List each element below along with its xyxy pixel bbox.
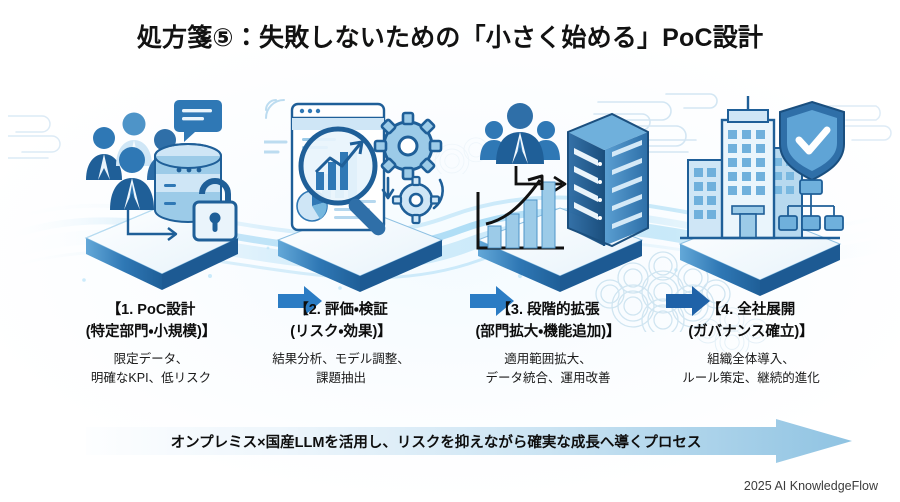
- stage-1-art: [62, 88, 258, 296]
- summary-banner-text: オンプレミス×国産LLMを活用し、リスクを抑えながら確実な成長へ導くプロセス: [86, 419, 786, 463]
- speech-bubble-icon: [174, 100, 222, 142]
- stage-3-heading: 【3. 段階的拡張 (部門拡大・機能追加)】: [439, 300, 657, 344]
- people-group-icon: [480, 103, 560, 164]
- stage-1-heading: 【1. PoC設計 (特定部門・小規模)】: [42, 300, 260, 344]
- process-stage-row: [52, 88, 852, 298]
- signal-icon: [264, 100, 286, 152]
- stage-1-detail: 限定データ、 明確なKPI、低リスク: [42, 350, 260, 389]
- stage-4-detail: 組織全体導入、 ルール策定、継続的進化: [642, 350, 860, 389]
- stage-1-illustration: [62, 88, 258, 296]
- stage-4-illustration: [660, 88, 856, 296]
- stage-3-illustration: [462, 88, 658, 296]
- gear-small-icon: [393, 177, 439, 223]
- gear-large-icon: [375, 113, 441, 179]
- stage-2-heading: 【2. 評価・検証 (リスク・効果)】: [232, 300, 450, 344]
- stage-3-art: [462, 88, 658, 296]
- stage-3-detail: 適用範囲拡大、 データ統合、運用改善: [439, 350, 657, 389]
- stage-4-label: 【4. 全社展開 (ガバナンス確立)】 組織全体導入、 ルール策定、継続的進化: [642, 300, 860, 388]
- stage-2-label: 【2. 評価・検証 (リスク・効果)】 結果分析、モデル調整、 課題抽出: [232, 300, 450, 388]
- slide-title: 処方箋⑤：失敗しないための「小さく始める」PoC設計: [0, 18, 900, 54]
- server-rack-icon: [568, 114, 648, 246]
- footer-credit: 2025 AI KnowledgeFlow: [744, 479, 878, 493]
- stage-2-detail: 結果分析、モデル調整、 課題抽出: [232, 350, 450, 389]
- stage-2-art: [264, 88, 460, 296]
- slide-canvas: 処方箋⑤：失敗しないための「小さく始める」PoC設計: [0, 0, 900, 502]
- summary-banner: オンプレミス×国産LLMを活用し、リスクを抑えながら確実な成長へ導くプロセス: [86, 419, 852, 463]
- stage-2-illustration: [264, 88, 460, 296]
- stage-3-label: 【3. 段階的拡張 (部門拡大・機能追加)】 適用範囲拡大、 データ統合、運用改…: [439, 300, 657, 388]
- stage-4-art: [660, 88, 856, 296]
- stage-1-label: 【1. PoC設計 (特定部門・小規模)】 限定データ、 明確なKPI、低リスク: [42, 300, 260, 388]
- stage-4-heading: 【4. 全社展開 (ガバナンス確立)】: [642, 300, 860, 344]
- stage-label-row: 【1. PoC設計 (特定部門・小規模)】 限定データ、 明確なKPI、低リスク…: [0, 300, 900, 400]
